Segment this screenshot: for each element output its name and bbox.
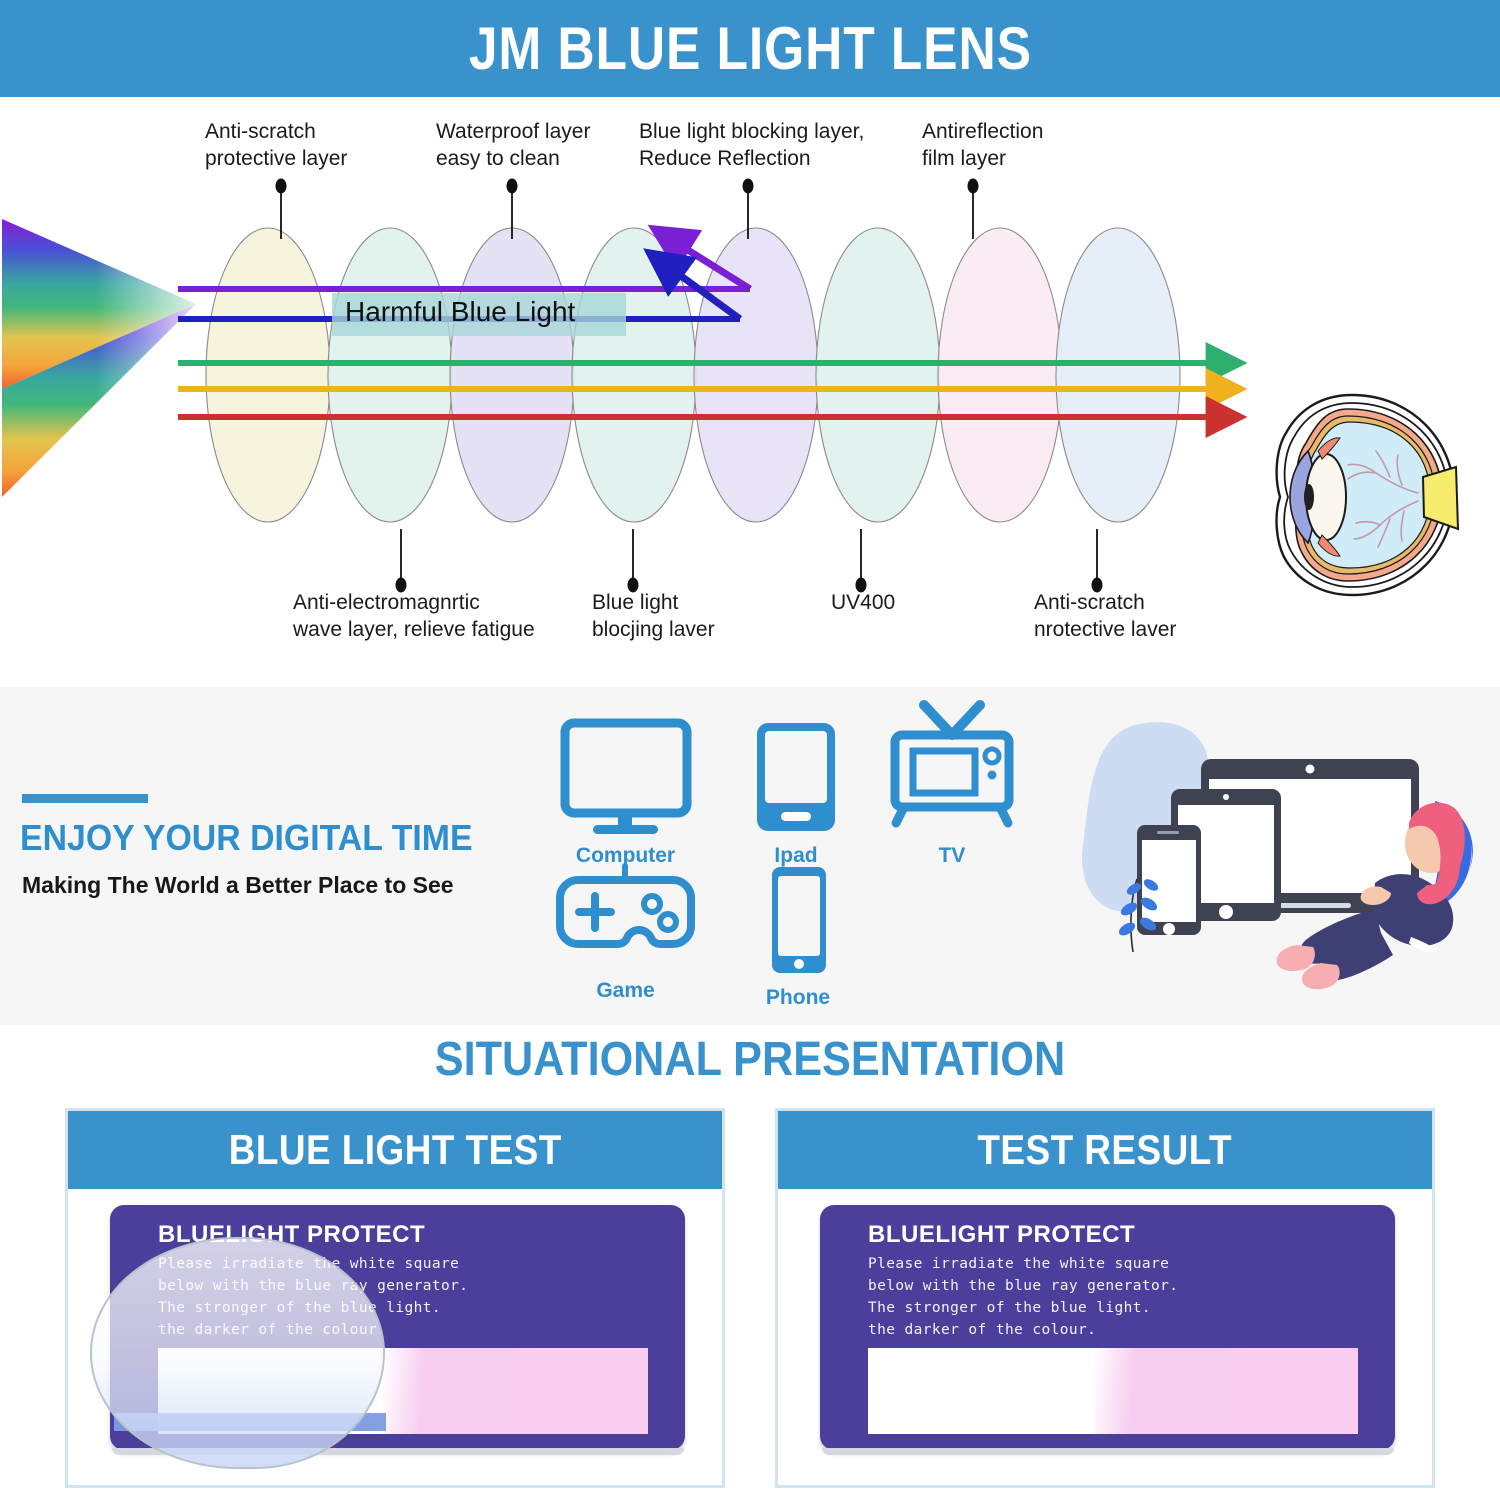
- panel-body-left: BLUELIGHT PROTECT Please irradiate the w…: [68, 1189, 722, 1485]
- person-with-devices-illustration: [1075, 697, 1495, 1017]
- callout-anti-scratch-top: Anti-scratch protective layer: [205, 119, 347, 172]
- digital-time-section: ENJOY YOUR DIGITAL TIME Making The World…: [0, 685, 1500, 1025]
- device-label-tv: TV: [882, 844, 1022, 868]
- card-instructions-left: Please irradiate the white square below …: [158, 1253, 468, 1341]
- gamepad-icon: [548, 862, 703, 970]
- swatch-pink-region: [1093, 1348, 1358, 1434]
- page-header: JM BLUE LIGHT LENS: [0, 0, 1500, 97]
- callout-anti-scratch-bottom: Anti-scratch nrotective laver: [1034, 590, 1176, 643]
- device-label-phone: Phone: [742, 986, 854, 1010]
- lens-layers-diagram: [0, 97, 1500, 685]
- callout-dots-top: [276, 179, 979, 194]
- device-phone: Phone: [742, 865, 854, 1010]
- device-tv: TV: [882, 699, 1022, 868]
- harmful-blue-light-label: Harmful Blue Light: [345, 296, 575, 328]
- device-ipad: Ipad: [740, 719, 852, 868]
- card-edge: [112, 1448, 684, 1455]
- section-accent-rule: [22, 794, 148, 803]
- tablet-icon: [740, 719, 852, 835]
- card-edge: [822, 1448, 1394, 1455]
- callout-blue-light-blocking-bottom: Blue light blocjing laver: [592, 590, 715, 643]
- callout-waterproof: Waterproof layer easy to clean: [436, 119, 590, 172]
- callout-anti-electromagnetic: Anti-electromagnrtic wave layer, relieve…: [293, 590, 535, 643]
- panel-header-right: TEST RESULT: [778, 1111, 1432, 1189]
- rainbow-prism-icon: [2, 219, 216, 499]
- test-card-right: BLUELIGHT PROTECT Please irradiate the w…: [820, 1205, 1395, 1450]
- tv-icon: [882, 699, 1022, 835]
- card-title-left: BLUELIGHT PROTECT: [158, 1221, 425, 1249]
- panel-header-left: BLUE LIGHT TEST: [68, 1111, 722, 1189]
- panel-title-blue-light-test: BLUE LIGHT TEST: [228, 1126, 561, 1174]
- panel-test-result: TEST RESULT BLUELIGHT PROTECT Please irr…: [775, 1108, 1435, 1488]
- card-test-swatch-right: [868, 1348, 1358, 1434]
- eye-anatomy-icon: [1277, 395, 1458, 595]
- panel-blue-light-test: BLUE LIGHT TEST BLUELIGHT PROTECT Please…: [65, 1108, 725, 1488]
- card-title-right: BLUELIGHT PROTECT: [868, 1221, 1135, 1249]
- digital-time-title: ENJOY YOUR DIGITAL TIME: [20, 817, 473, 859]
- callout-uv400: UV400: [831, 590, 895, 617]
- smartphone-icon: [742, 865, 854, 977]
- device-game: Game: [548, 862, 703, 1003]
- callout-leaders-bottom: [401, 529, 1097, 584]
- lens-edge-tint: [114, 1413, 386, 1431]
- situational-title: SITUATIONAL PRESENTATION: [75, 1032, 1425, 1087]
- page-title: JM BLUE LIGHT LENS: [468, 14, 1031, 83]
- card-instructions-right: Please irradiate the white square below …: [868, 1253, 1178, 1341]
- panel-body-right: BLUELIGHT PROTECT Please irradiate the w…: [778, 1189, 1432, 1485]
- swatch-pink-region: [383, 1348, 648, 1434]
- lens-layer-group: [206, 228, 1180, 522]
- digital-time-subtitle: Making The World a Better Place to See: [22, 872, 454, 899]
- callout-antireflection: Antireflection film layer: [922, 119, 1043, 172]
- monitor-icon: [548, 717, 703, 835]
- infographic-page: JM BLUE LIGHT LENS: [0, 0, 1500, 1500]
- callout-blue-light-blocking: Blue light blocking layer, Reduce Reflec…: [639, 119, 864, 172]
- device-label-game: Game: [548, 979, 703, 1003]
- panel-title-test-result: TEST RESULT: [978, 1126, 1233, 1174]
- device-computer: Computer: [548, 717, 703, 868]
- lens-diagram-section: Harmful Blue Light Anti-scratch protecti…: [0, 97, 1500, 685]
